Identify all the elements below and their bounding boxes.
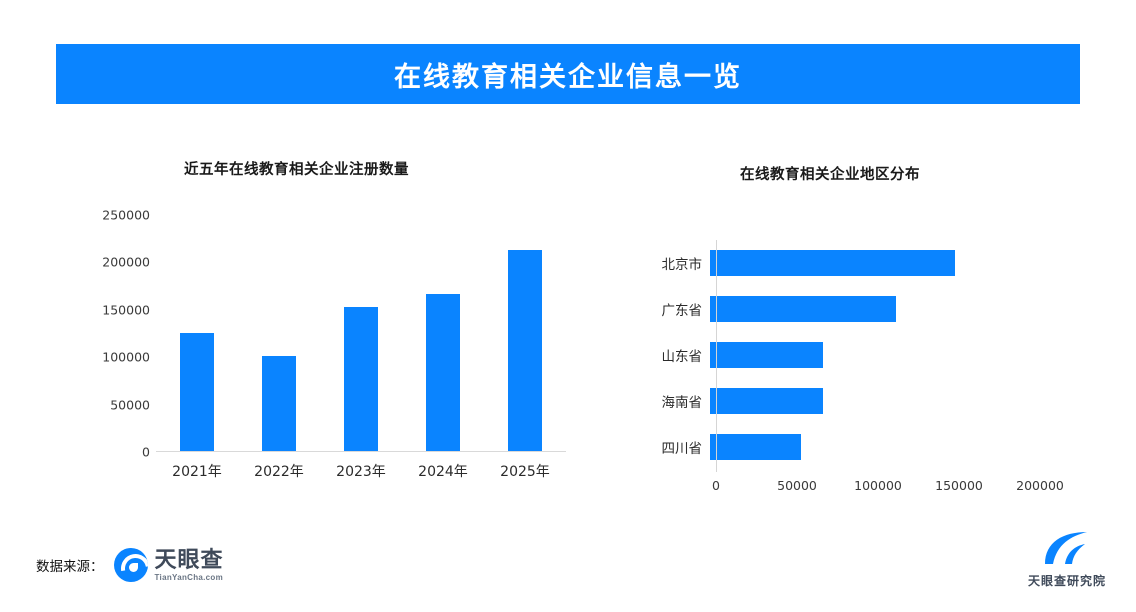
x-axis-tick-labels: 050000100000150000200000	[716, 478, 1040, 498]
y-tick-label: 50000	[110, 397, 150, 412]
header-banner: 在线教育相关企业信息一览	[56, 44, 1080, 104]
x-tick-label: 2022年	[238, 461, 320, 481]
bar-row: 四川省	[640, 424, 1040, 470]
y-tick-label: 150000	[102, 302, 150, 317]
bar-row: 山东省	[640, 332, 1040, 378]
y-axis-line	[716, 240, 717, 472]
bar-row: 广东省	[640, 286, 1040, 332]
x-tick-label: 0	[712, 478, 720, 493]
tianyancha-name-cn: 天眼查	[155, 549, 224, 571]
x-tick-label: 2025年	[484, 461, 566, 481]
bar	[426, 294, 460, 451]
bar-row: 海南省	[640, 378, 1040, 424]
infographic-page: 在线教育相关企业信息一览 近五年在线教育相关企业注册数量 在线教育相关企业地区分…	[0, 0, 1136, 612]
bar-slot	[156, 215, 238, 451]
bar-track	[710, 332, 1040, 378]
bar	[710, 388, 823, 414]
bar	[710, 342, 823, 368]
bar-series: 北京市广东省山东省海南省四川省	[640, 240, 1040, 472]
x-axis-tick-labels: 2021年2022年2023年2024年2025年	[156, 461, 566, 481]
category-label: 四川省	[640, 437, 710, 457]
bar	[710, 434, 801, 460]
x-axis-line	[156, 451, 566, 452]
x-tick-label: 100000	[854, 478, 902, 493]
source-label: 数据来源：	[36, 555, 104, 575]
bar-track	[710, 378, 1040, 424]
data-source-footer: 数据来源： 天眼查 TianYanCha.com	[36, 548, 224, 582]
y-tick-label: 250000	[102, 208, 150, 223]
category-label: 北京市	[640, 253, 710, 273]
bar-slot	[484, 215, 566, 451]
tianyancha-name-en: TianYanCha.com	[155, 574, 224, 582]
category-label: 广东省	[640, 299, 710, 319]
bar-row: 北京市	[640, 240, 1040, 286]
y-tick-label: 200000	[102, 255, 150, 270]
bar	[508, 250, 542, 451]
bar-track	[710, 424, 1040, 470]
tianyancha-logo: 天眼查 TianYanCha.com	[114, 548, 224, 582]
bar-slot	[402, 215, 484, 451]
bar-track	[710, 240, 1040, 286]
x-tick-label: 2023年	[320, 461, 402, 481]
bar	[344, 307, 378, 451]
bar-series	[156, 215, 566, 451]
x-tick-label: 150000	[935, 478, 983, 493]
registrations-bar-chart: 050000100000150000200000250000 2021年2022…	[88, 215, 568, 500]
institute-name: 天眼查研究院	[1028, 572, 1106, 589]
bar	[180, 333, 214, 451]
y-axis-tick-labels: 050000100000150000200000250000	[88, 215, 150, 452]
x-tick-label: 2024年	[402, 461, 484, 481]
x-tick-label: 2021年	[156, 461, 238, 481]
tianyancha-eye-icon	[114, 548, 148, 582]
plot-area	[156, 215, 566, 452]
research-institute-logo: 天眼查研究院	[1028, 530, 1106, 589]
bar	[710, 250, 955, 276]
tianyancha-wordmark: 天眼查 TianYanCha.com	[155, 549, 224, 582]
category-label: 海南省	[640, 391, 710, 411]
category-label: 山东省	[640, 345, 710, 365]
bar-slot	[320, 215, 402, 451]
region-bar-chart: 北京市广东省山东省海南省四川省 050000100000150000200000	[640, 240, 1040, 500]
institute-swirl-icon	[1041, 530, 1093, 568]
left-chart-title: 近五年在线教育相关企业注册数量	[184, 158, 409, 179]
bar-slot	[238, 215, 320, 451]
bar	[710, 296, 896, 322]
bar	[262, 356, 296, 451]
y-tick-label: 0	[142, 445, 150, 460]
bar-track	[710, 286, 1040, 332]
x-tick-label: 50000	[777, 478, 817, 493]
y-tick-label: 100000	[102, 350, 150, 365]
right-chart-title: 在线教育相关企业地区分布	[740, 163, 920, 184]
page-title: 在线教育相关企业信息一览	[394, 55, 742, 94]
x-tick-label: 200000	[1016, 478, 1064, 493]
